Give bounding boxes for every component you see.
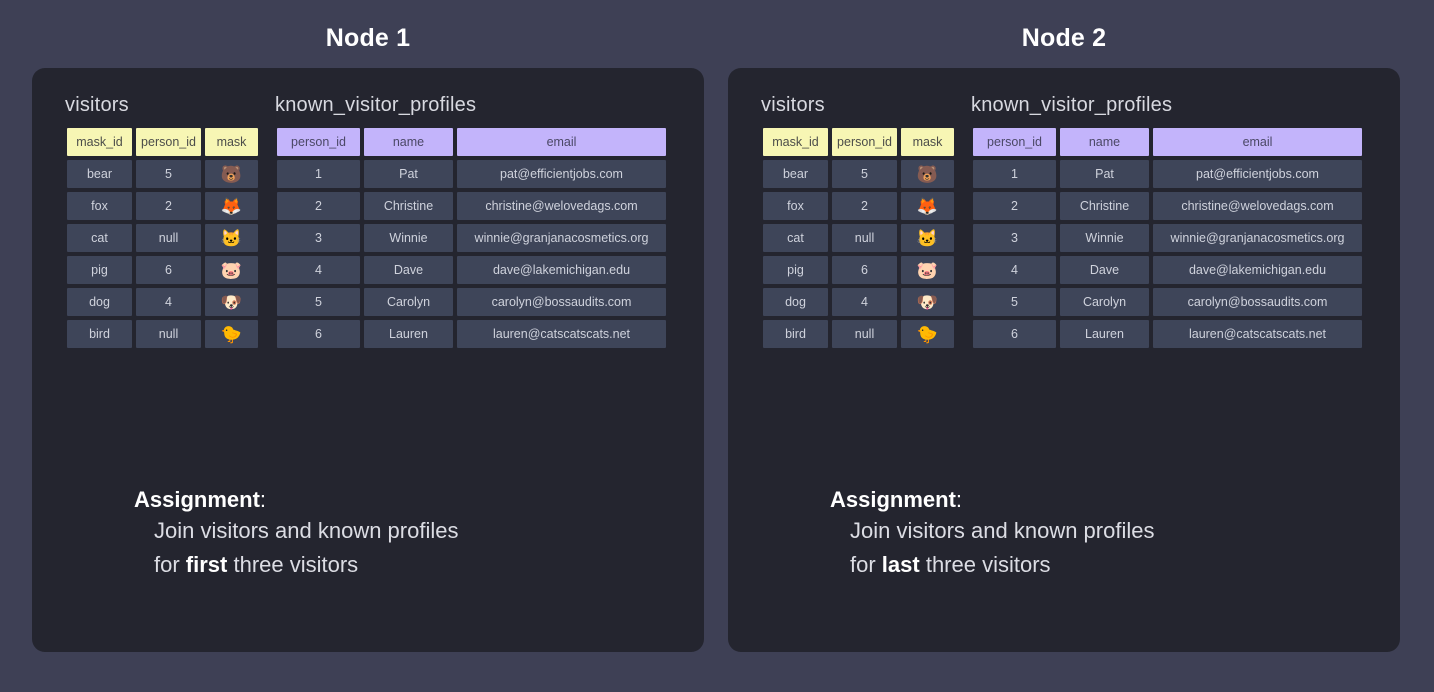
cell-person-id: 1	[973, 160, 1056, 188]
assignment-colon: :	[260, 487, 266, 512]
table-row: 6 Lauren lauren@catscatscats.net	[277, 320, 666, 348]
column-header-email: email	[457, 128, 666, 156]
cell-email: pat@efficientjobs.com	[457, 160, 666, 188]
cell-person-id: null	[832, 224, 897, 252]
cell-mask-emoji: 🐻	[205, 160, 258, 188]
assignment-line2-prefix: for	[154, 552, 186, 577]
cell-mask-emoji: 🐱	[901, 224, 954, 252]
table-row: dog 4 🐶	[67, 288, 258, 316]
cell-person-id: 4	[277, 256, 360, 284]
cell-person-id: null	[136, 320, 201, 348]
table-row: bear 5 🐻	[763, 160, 954, 188]
cell-name: Christine	[364, 192, 453, 220]
cell-mask-id: cat	[763, 224, 828, 252]
table-row: 4 Dave dave@lakemichigan.edu	[973, 256, 1362, 284]
visitors-table-block-2: visitors mask_id person_id mask	[759, 94, 958, 352]
cell-person-id: 1	[277, 160, 360, 188]
table-row: pig 6 🐷	[67, 256, 258, 284]
cell-mask-id: bird	[67, 320, 132, 348]
column-header-mask: mask	[205, 128, 258, 156]
cell-mask-id: pig	[67, 256, 132, 284]
cell-person-id: 5	[973, 288, 1056, 316]
cell-mask-id: fox	[763, 192, 828, 220]
table-row: dog 4 🐶	[763, 288, 954, 316]
cell-email: lauren@catscatscats.net	[1153, 320, 1362, 348]
cell-mask-emoji: 🐶	[205, 288, 258, 316]
cell-person-id: 4	[973, 256, 1056, 284]
assignment-heading-1: Assignment:	[134, 486, 674, 514]
assignment-line2-emphasis: first	[186, 552, 228, 577]
assignment-line2-suffix: three visitors	[920, 552, 1051, 577]
cell-name: Pat	[1060, 160, 1149, 188]
assignment-text-1: Join visitors and known profiles for fir…	[134, 514, 674, 581]
column-header-name: name	[1060, 128, 1149, 156]
profiles-table-caption-2: known_visitor_profiles	[971, 94, 1366, 117]
node-panel-1: Node 1 visitors mask_id person_id mask	[32, 0, 704, 692]
column-header-person-id: person_id	[136, 128, 201, 156]
assignment-text-2: Join visitors and known profiles for las…	[830, 514, 1370, 581]
column-header-mask: mask	[901, 128, 954, 156]
cell-mask-id: pig	[763, 256, 828, 284]
column-header-person-id: person_id	[973, 128, 1056, 156]
table-row: bear 5 🐻	[67, 160, 258, 188]
cell-email: dave@lakemichigan.edu	[457, 256, 666, 284]
cell-email: christine@welovedags.com	[1153, 192, 1362, 220]
cell-mask-emoji: 🐷	[901, 256, 954, 284]
node-card-1: visitors mask_id person_id mask	[32, 68, 704, 652]
table-row: 3 Winnie winnie@granjanacosmetics.org	[277, 224, 666, 252]
cell-name: Lauren	[364, 320, 453, 348]
cell-name: Pat	[364, 160, 453, 188]
column-header-name: name	[364, 128, 453, 156]
cell-email: dave@lakemichigan.edu	[1153, 256, 1362, 284]
table-row: fox 2 🦊	[763, 192, 954, 220]
assignment-label-text: Assignment	[134, 487, 260, 512]
cell-mask-id: bird	[763, 320, 828, 348]
cell-name: Dave	[364, 256, 453, 284]
table-row: pig 6 🐷	[763, 256, 954, 284]
cell-email: carolyn@bossaudits.com	[457, 288, 666, 316]
column-header-person-id: person_id	[277, 128, 360, 156]
visitors-table-2: mask_id person_id mask bear 5 🐻 fox	[759, 124, 958, 352]
table-header-row: mask_id person_id mask	[763, 128, 954, 156]
visitors-table-block-1: visitors mask_id person_id mask	[63, 94, 262, 352]
table-header-row: mask_id person_id mask	[67, 128, 258, 156]
assignment-line-1: Join visitors and known profiles	[154, 514, 674, 547]
table-row: 2 Christine christine@welovedags.com	[973, 192, 1362, 220]
assignment-line-2: for last three visitors	[850, 548, 1370, 581]
cell-person-id: null	[832, 320, 897, 348]
assignment-line2-emphasis: last	[882, 552, 920, 577]
cell-person-id: 4	[136, 288, 201, 316]
table-row: cat null 🐱	[67, 224, 258, 252]
table-row: 4 Dave dave@lakemichigan.edu	[277, 256, 666, 284]
table-header-row: person_id name email	[973, 128, 1362, 156]
cell-mask-emoji: 🐤	[901, 320, 954, 348]
table-row: 5 Carolyn carolyn@bossaudits.com	[973, 288, 1362, 316]
cell-person-id: 2	[136, 192, 201, 220]
cell-person-id: 2	[832, 192, 897, 220]
visitors-table-caption-2: visitors	[761, 94, 958, 117]
profiles-table-block-2: known_visitor_profiles person_id name em…	[969, 94, 1366, 352]
cell-person-id: null	[136, 224, 201, 252]
table-header-row: person_id name email	[277, 128, 666, 156]
assignment-line2-suffix: three visitors	[227, 552, 358, 577]
cell-email: christine@welovedags.com	[457, 192, 666, 220]
visitors-table-caption-1: visitors	[65, 94, 262, 117]
cell-person-id: 4	[832, 288, 897, 316]
assignment-block-2: Assignment: Join visitors and known prof…	[830, 486, 1370, 581]
node-panel-2: Node 2 visitors mask_id person_id mask	[728, 0, 1400, 692]
cell-name: Lauren	[1060, 320, 1149, 348]
known-visitor-profiles-table-1: person_id name email 1 Pat pat@efficient…	[273, 124, 670, 352]
assignment-block-1: Assignment: Join visitors and known prof…	[134, 486, 674, 581]
cell-mask-emoji: 🐤	[205, 320, 258, 348]
assignment-label-text: Assignment	[830, 487, 956, 512]
table-row: fox 2 🦊	[67, 192, 258, 220]
cell-person-id: 6	[832, 256, 897, 284]
node-card-2: visitors mask_id person_id mask	[728, 68, 1400, 652]
assignment-line-2: for first three visitors	[154, 548, 674, 581]
known-visitor-profiles-table-2: person_id name email 1 Pat pat@efficient…	[969, 124, 1366, 352]
column-header-person-id: person_id	[832, 128, 897, 156]
cell-email: carolyn@bossaudits.com	[1153, 288, 1362, 316]
table-row: 3 Winnie winnie@granjanacosmetics.org	[973, 224, 1362, 252]
table-row: 5 Carolyn carolyn@bossaudits.com	[277, 288, 666, 316]
cell-person-id: 5	[832, 160, 897, 188]
assignment-colon: :	[956, 487, 962, 512]
cell-mask-emoji: 🐷	[205, 256, 258, 284]
diagram-canvas: Node 1 visitors mask_id person_id mask	[0, 0, 1434, 692]
node-title-1: Node 1	[32, 24, 704, 53]
cell-name: Carolyn	[1060, 288, 1149, 316]
cell-person-id: 6	[277, 320, 360, 348]
node-title-2: Node 2	[728, 24, 1400, 53]
cell-email: winnie@granjanacosmetics.org	[1153, 224, 1362, 252]
cell-name: Christine	[1060, 192, 1149, 220]
cell-mask-emoji: 🦊	[901, 192, 954, 220]
table-row: 2 Christine christine@welovedags.com	[277, 192, 666, 220]
cell-mask-id: dog	[67, 288, 132, 316]
cell-mask-id: cat	[67, 224, 132, 252]
cell-mask-id: bear	[763, 160, 828, 188]
cell-person-id: 3	[973, 224, 1056, 252]
assignment-line2-prefix: for	[850, 552, 882, 577]
profiles-table-block-1: known_visitor_profiles person_id name em…	[273, 94, 670, 352]
cell-mask-id: dog	[763, 288, 828, 316]
cell-name: Dave	[1060, 256, 1149, 284]
table-row: bird null 🐤	[67, 320, 258, 348]
column-header-email: email	[1153, 128, 1362, 156]
table-row: 1 Pat pat@efficientjobs.com	[277, 160, 666, 188]
column-header-mask-id: mask_id	[67, 128, 132, 156]
assignment-heading-2: Assignment:	[830, 486, 1370, 514]
cell-mask-emoji: 🐶	[901, 288, 954, 316]
cell-mask-emoji: 🐻	[901, 160, 954, 188]
profiles-table-caption-1: known_visitor_profiles	[275, 94, 670, 117]
cell-name: Carolyn	[364, 288, 453, 316]
cell-mask-emoji: 🐱	[205, 224, 258, 252]
cell-mask-emoji: 🦊	[205, 192, 258, 220]
cell-person-id: 6	[973, 320, 1056, 348]
cell-person-id: 2	[973, 192, 1056, 220]
cell-person-id: 2	[277, 192, 360, 220]
table-row: bird null 🐤	[763, 320, 954, 348]
table-row: cat null 🐱	[763, 224, 954, 252]
cell-mask-id: fox	[67, 192, 132, 220]
cell-person-id: 5	[277, 288, 360, 316]
table-row: 1 Pat pat@efficientjobs.com	[973, 160, 1362, 188]
visitors-table-1: mask_id person_id mask bear 5 🐻 fox	[63, 124, 262, 352]
assignment-line-1: Join visitors and known profiles	[850, 514, 1370, 547]
column-header-mask-id: mask_id	[763, 128, 828, 156]
cell-name: Winnie	[364, 224, 453, 252]
table-row: 6 Lauren lauren@catscatscats.net	[973, 320, 1362, 348]
cell-person-id: 3	[277, 224, 360, 252]
cell-person-id: 5	[136, 160, 201, 188]
cell-email: pat@efficientjobs.com	[1153, 160, 1362, 188]
cell-name: Winnie	[1060, 224, 1149, 252]
cell-email: winnie@granjanacosmetics.org	[457, 224, 666, 252]
cell-person-id: 6	[136, 256, 201, 284]
cell-email: lauren@catscatscats.net	[457, 320, 666, 348]
cell-mask-id: bear	[67, 160, 132, 188]
